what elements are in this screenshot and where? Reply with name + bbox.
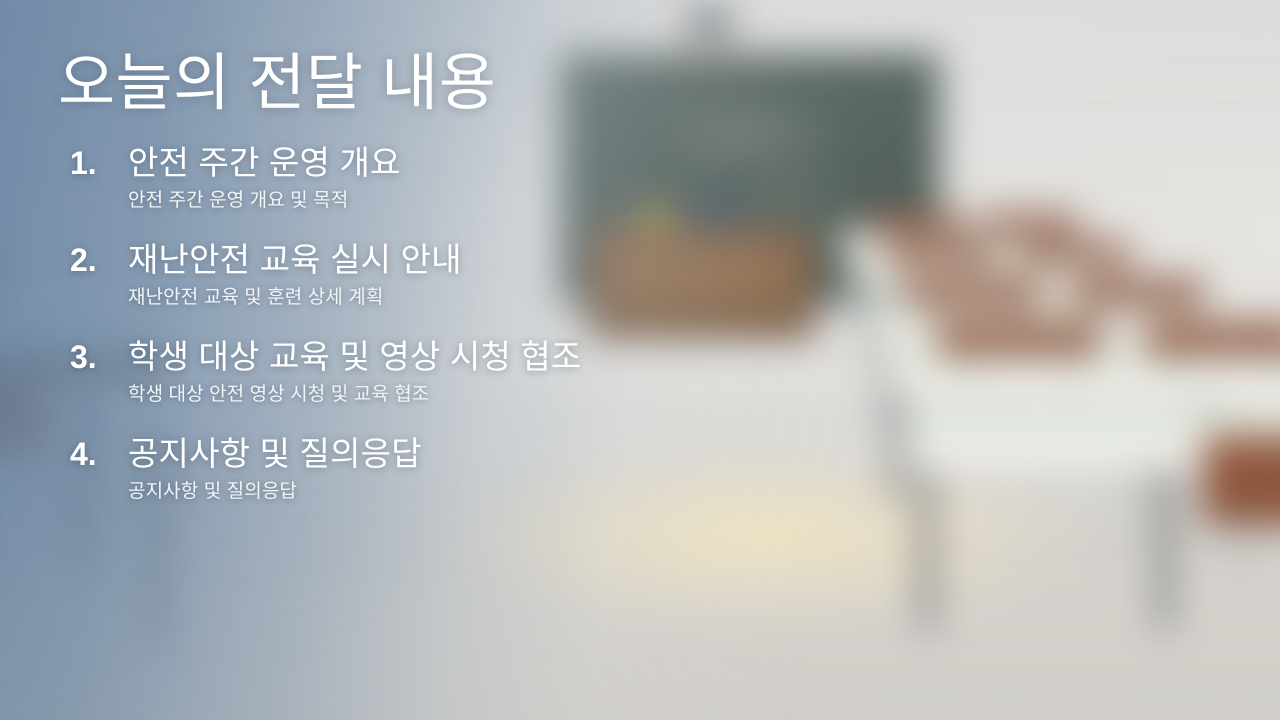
page-title: 오늘의 전달 내용 — [58, 49, 496, 118]
agenda-item-title: 재난안전 교육 실시 안내 — [128, 239, 824, 282]
agenda-item-body: 공지사항 및 질의응답 공지사항 및 질의응답 — [128, 433, 824, 505]
agenda-item-3[interactable]: 3. 학생 대상 교육 및 영상 시청 협조 학생 대상 안전 영상 시청 및 … — [64, 336, 824, 414]
agenda-item-title: 안전 주간 운영 개요 — [128, 142, 824, 185]
agenda-item-subtitle: 재난안전 교육 및 훈련 상세 계획 — [128, 284, 824, 312]
agenda-item-number: 4. — [64, 433, 128, 475]
agenda-item-1[interactable]: 1. 안전 주간 운영 개요 안전 주간 운영 개요 및 목적 — [64, 142, 824, 220]
slide-content: 오늘의 전달 내용 1. 안전 주간 운영 개요 안전 주간 운영 개요 및 목… — [0, 0, 1280, 720]
agenda-item-subtitle: 안전 주간 운영 개요 및 목적 — [128, 187, 824, 215]
agenda-item-body: 재난안전 교육 실시 안내 재난안전 교육 및 훈련 상세 계획 — [128, 239, 824, 311]
agenda-list: 1. 안전 주간 운영 개요 안전 주간 운영 개요 및 목적 2. 재난안전 … — [64, 142, 824, 530]
agenda-item-body: 학생 대상 교육 및 영상 시청 협조 학생 대상 안전 영상 시청 및 교육 … — [128, 336, 824, 408]
agenda-item-4[interactable]: 4. 공지사항 및 질의응답 공지사항 및 질의응답 — [64, 433, 824, 511]
agenda-item-2[interactable]: 2. 재난안전 교육 실시 안내 재난안전 교육 및 훈련 상세 계획 — [64, 239, 824, 317]
agenda-item-body: 안전 주간 운영 개요 안전 주간 운영 개요 및 목적 — [128, 142, 824, 214]
agenda-item-subtitle: 학생 대상 안전 영상 시청 및 교육 협조 — [128, 381, 824, 409]
agenda-item-number: 1. — [64, 142, 128, 184]
agenda-item-number: 3. — [64, 336, 128, 378]
agenda-item-title: 학생 대상 교육 및 영상 시청 협조 — [128, 336, 824, 379]
agenda-item-number: 2. — [64, 239, 128, 281]
agenda-item-subtitle: 공지사항 및 질의응답 — [128, 478, 824, 506]
presentation-slide: 오늘의 전달 내용 1. 안전 주간 운영 개요 안전 주간 운영 개요 및 목… — [0, 0, 1280, 720]
agenda-item-title: 공지사항 및 질의응답 — [128, 433, 824, 476]
